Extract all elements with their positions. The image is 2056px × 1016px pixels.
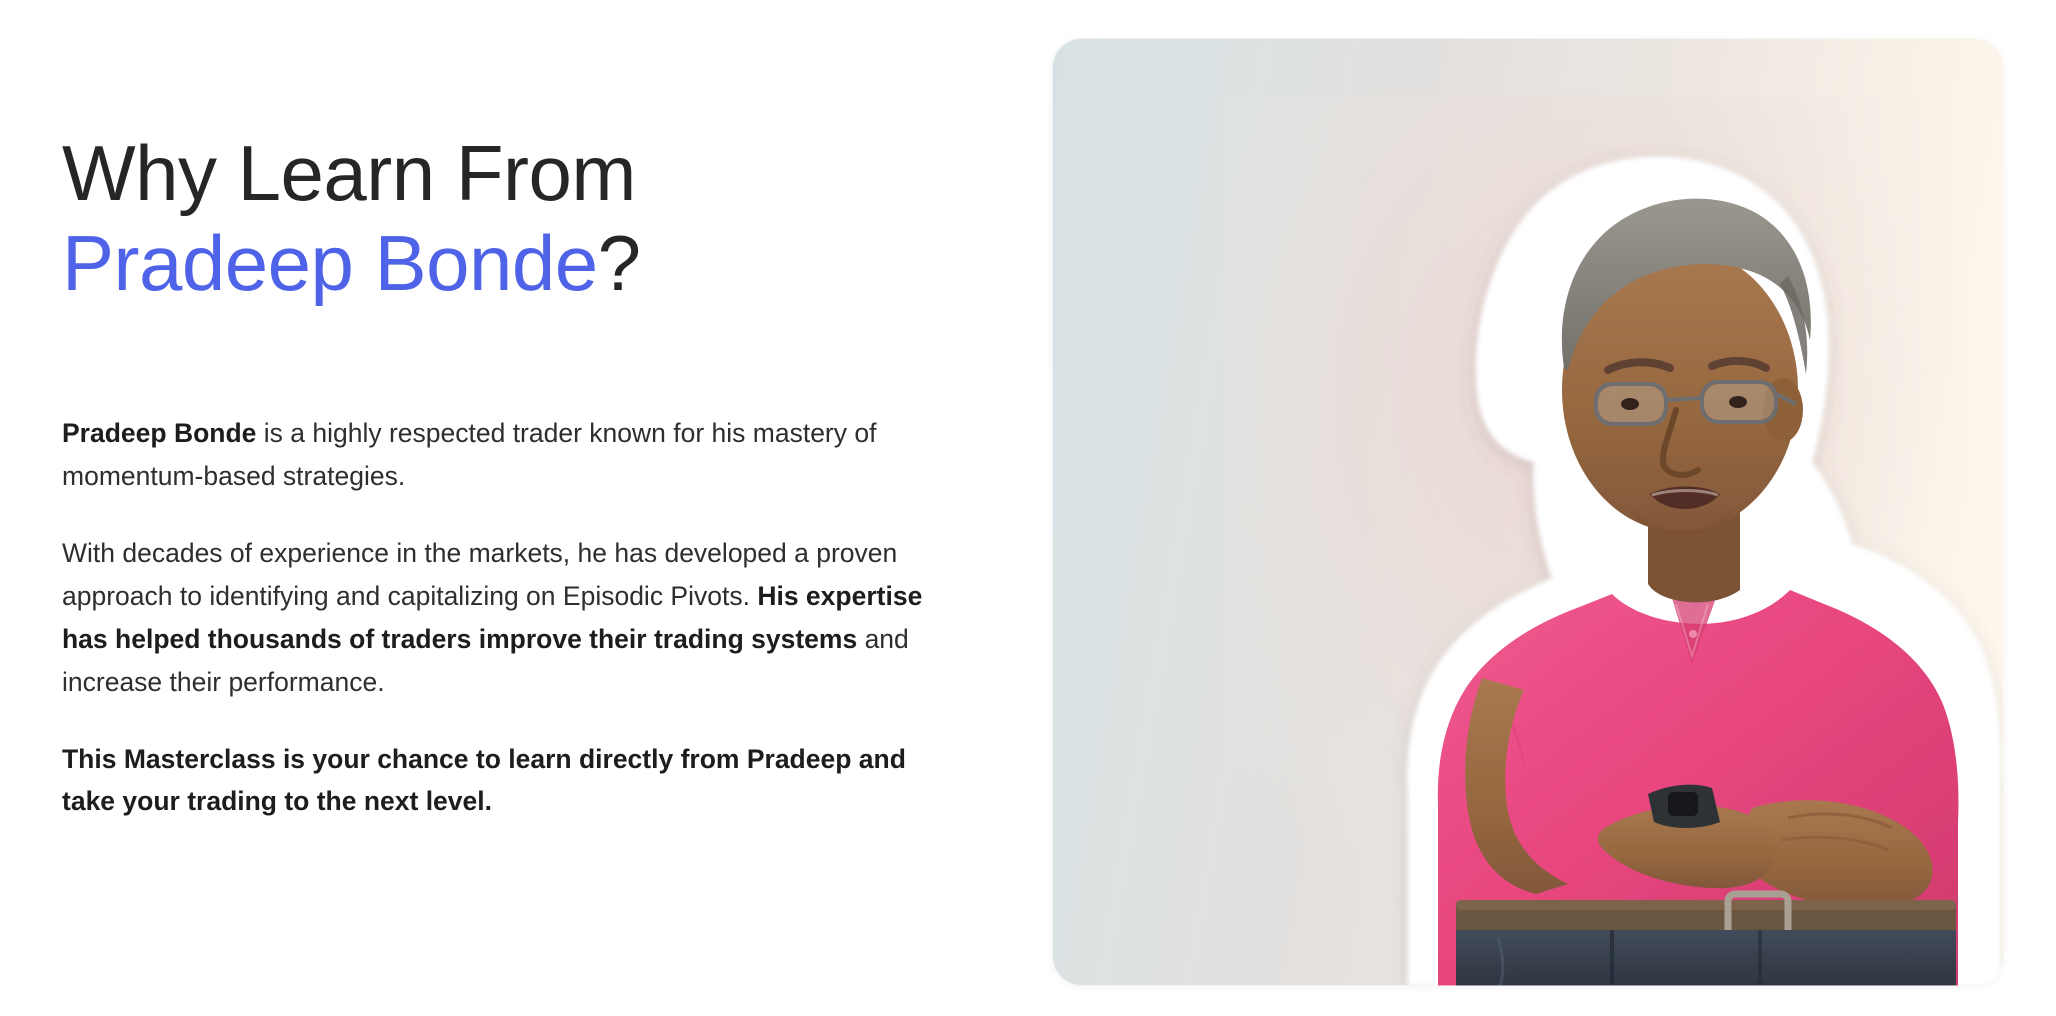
page-root: Why Learn From Pradeep Bonde? Pradeep Bo… [0, 0, 2056, 1016]
left-content-column: Why Learn From Pradeep Bonde? Pradeep Bo… [62, 0, 992, 1016]
speaker-eye-right [1729, 396, 1747, 408]
trader-name-bold: Pradeep Bonde [62, 418, 256, 448]
speaker-portrait [1052, 38, 2004, 986]
shirt-button [1689, 630, 1697, 638]
page-title-accent: Pradeep Bonde [62, 219, 598, 307]
speaker-portrait-illustration [1052, 38, 2004, 986]
paragraph-intro: Pradeep Bonde is a highly respected trad… [62, 412, 942, 498]
page-title: Why Learn From Pradeep Bonde? [62, 128, 962, 309]
page-title-line-1: Why Learn From [62, 128, 962, 218]
body-copy: Pradeep Bonde is a highly respected trad… [62, 412, 952, 823]
paragraph-experience: With decades of experience in the market… [62, 532, 942, 704]
speaker-image-card: DLSUB.COM ADMIN@DLSUB.COM [1052, 38, 2004, 986]
page-title-line-2: Pradeep Bonde? [62, 218, 962, 308]
speaker-jeans [1456, 930, 1956, 986]
speaker-eye-left [1621, 398, 1639, 410]
page-title-question-mark: ? [598, 219, 641, 307]
paragraph-masterclass-cta: This Masterclass is your chance to learn… [62, 738, 942, 824]
belt-highlight [1456, 900, 1956, 910]
watch-face [1668, 792, 1698, 816]
